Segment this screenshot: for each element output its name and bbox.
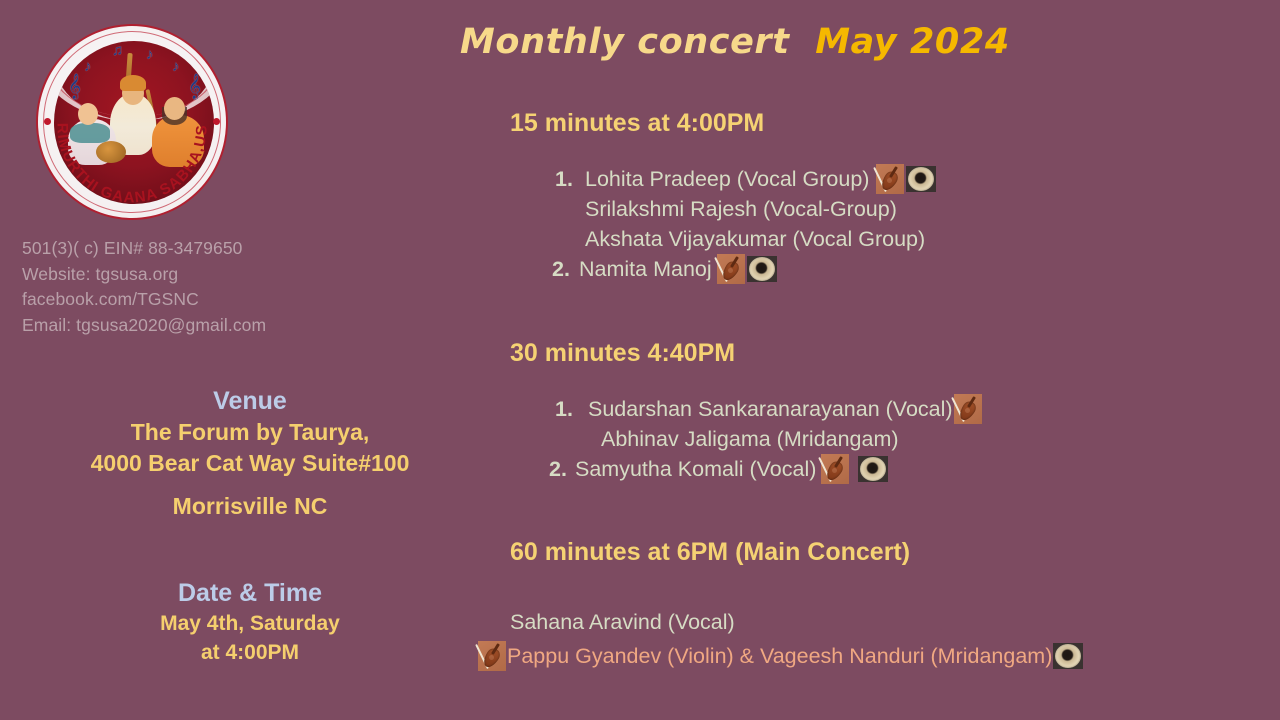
musician-head-right — [164, 97, 185, 120]
veena-gourd-shape — [96, 141, 126, 163]
logo-accent-dot-left — [44, 118, 51, 125]
eighth-note-icon-2: ♪ — [146, 47, 154, 62]
venue-city: Morrisville NC — [0, 491, 500, 522]
mridangam-drum-icon — [906, 166, 936, 192]
list-item-label: Pappu Gyandev (Violin) & Vageesh Nanduri… — [507, 641, 1052, 671]
logo-accent-dot-right — [213, 118, 220, 125]
treble-clef-icon: 𝄞 — [68, 75, 81, 97]
list-item-label: Srilakshmi Rajesh (Vocal-Group) — [585, 194, 897, 224]
page-title-main: Monthly concert — [460, 22, 790, 62]
logo-outer-ring: 𝄞 ♪ ♫ ♪ ♪ 𝄞 — [36, 24, 228, 220]
musician-shawl-left — [70, 123, 110, 143]
venue-name: The Forum by Taurya, — [0, 417, 500, 448]
mridangam-drum-icon — [747, 256, 777, 282]
program-section-15min: 15 minutes at 4:00PM 1. Lohita Pradeep (… — [510, 108, 1280, 284]
list-item: 2. Samyutha Komali (Vocal) — [549, 454, 1280, 484]
list-item-label: Sahana Aravind (Vocal) — [510, 607, 735, 637]
eighth-note-icon: ♪ — [84, 59, 92, 74]
page-title-month: May 2024 — [815, 22, 1010, 62]
list-item: Pappu Gyandev (Violin) & Vageesh Nanduri… — [477, 641, 1280, 671]
list-item-label: Abhinav Jaligama (Mridangam) — [601, 424, 899, 454]
contact-line-ein: 501(3)( c) EIN# 88-3479650 — [22, 236, 352, 262]
violin-icon — [954, 394, 982, 424]
venue-spacer — [0, 479, 500, 491]
datetime-heading: Date & Time — [0, 578, 500, 609]
left-info-column: 𝄞 ♪ ♫ ♪ ♪ 𝄞 — [0, 0, 470, 720]
performer-list-15min: 1. Lohita Pradeep (Vocal Group) Srilaksh… — [510, 164, 1280, 284]
program-column: Monthly concert May 2024 15 minutes at 4… — [460, 0, 1280, 720]
list-item: Akshata Vijayakumar (Vocal Group) — [555, 224, 1280, 254]
list-item: Abhinav Jaligama (Mridangam) — [555, 424, 1280, 454]
list-item-number: 2. — [549, 454, 575, 484]
list-item-number: 2. — [552, 254, 579, 284]
list-item-label: Sudarshan Sankaranarayanan (Vocal) — [588, 394, 953, 424]
page-title: Monthly concert May 2024 — [460, 22, 1280, 62]
list-item-number: 1. — [555, 164, 585, 194]
musician-hair-center — [120, 75, 146, 91]
contact-line-email[interactable]: Email: tgsusa2020@gmail.com — [22, 313, 352, 339]
performer-list-30min: 1. Sudarshan Sankaranarayanan (Vocal) Ab… — [510, 394, 1280, 484]
list-item-label: Akshata Vijayakumar (Vocal Group) — [585, 224, 925, 254]
list-item-label: Samyutha Komali (Vocal) — [575, 454, 816, 484]
list-item-label: Lohita Pradeep (Vocal Group) — [585, 164, 869, 194]
violin-icon — [876, 164, 904, 194]
list-item-label: Namita Manoj — [579, 254, 712, 284]
list-item: Sahana Aravind (Vocal) — [510, 607, 1280, 637]
violin-icon — [717, 254, 745, 284]
organization-logo: 𝄞 ♪ ♫ ♪ ♪ 𝄞 — [36, 24, 228, 220]
venue-address: 4000 Bear Cat Way Suite#100 — [0, 448, 500, 479]
mridangam-drum-icon — [1053, 643, 1083, 669]
list-item: 1. Lohita Pradeep (Vocal Group) — [555, 164, 1280, 194]
event-time: at 4:00PM — [0, 638, 500, 667]
performer-list-60min: Sahana Aravind (Vocal) Pappu Gyandev (Vi… — [510, 607, 1280, 671]
beamed-notes-icon: ♫ — [112, 43, 123, 58]
list-item: Srilakshmi Rajesh (Vocal-Group) — [555, 194, 1280, 224]
datetime-block: Date & Time May 4th, Saturday at 4:00PM — [0, 578, 500, 667]
violin-icon — [478, 641, 506, 671]
venue-block: Venue The Forum by Taurya, 4000 Bear Cat… — [0, 386, 500, 522]
program-section-60min: 60 minutes at 6PM (Main Concert) Sahana … — [510, 537, 1280, 671]
musician-head-left — [78, 103, 98, 125]
program-section-30min: 30 minutes 4:40PM 1. Sudarshan Sankarana… — [510, 338, 1280, 484]
section-header-60min: 60 minutes at 6PM (Main Concert) — [510, 537, 1280, 567]
event-date: May 4th, Saturday — [0, 609, 500, 638]
treble-clef-icon-2: 𝄞 — [188, 75, 201, 97]
contact-line-facebook[interactable]: facebook.com/TGSNC — [22, 287, 352, 313]
list-item-number: 1. — [555, 394, 588, 424]
venue-heading: Venue — [0, 386, 500, 417]
list-item: 1. Sudarshan Sankaranarayanan (Vocal) — [555, 394, 1280, 424]
contact-line-website[interactable]: Website: tgsusa.org — [22, 262, 352, 288]
contact-info-block: 501(3)( c) EIN# 88-3479650 Website: tgsu… — [22, 236, 352, 338]
list-item: 2. Namita Manoj — [552, 254, 1280, 284]
section-header-15min: 15 minutes at 4:00PM — [510, 108, 1280, 138]
section-header-30min: 30 minutes 4:40PM — [510, 338, 1280, 368]
mridangam-drum-icon — [858, 456, 888, 482]
violin-icon — [821, 454, 849, 484]
logo-center-disc: 𝄞 ♪ ♫ ♪ ♪ 𝄞 — [54, 41, 214, 204]
eighth-note-icon-3: ♪ — [172, 59, 180, 74]
